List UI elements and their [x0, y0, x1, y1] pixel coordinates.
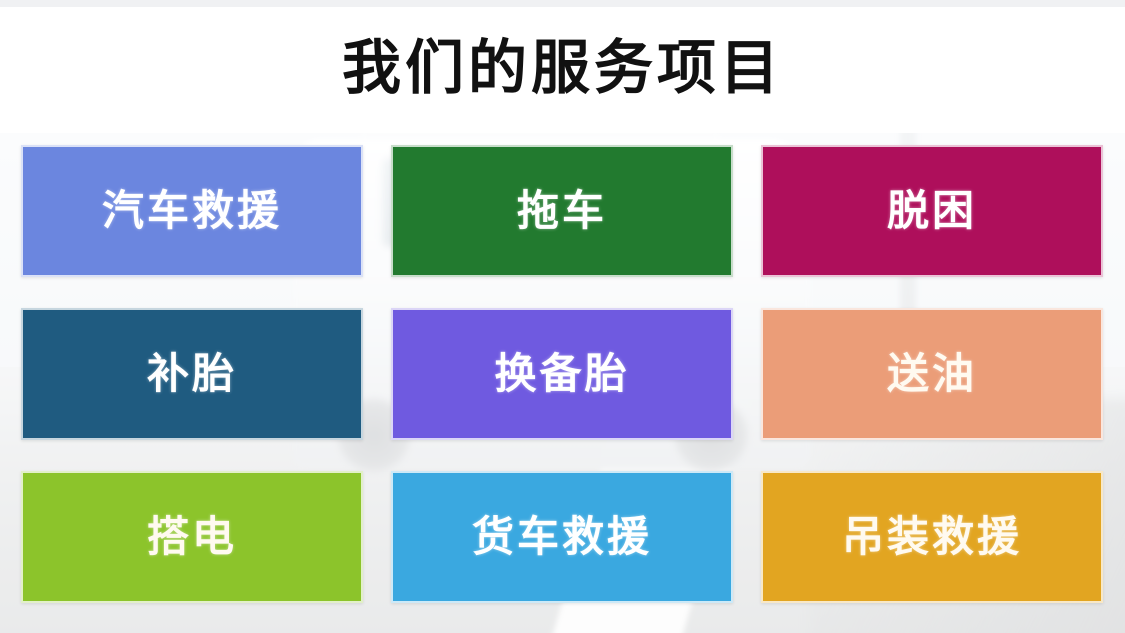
service-tile-label: 补胎 [147, 353, 237, 395]
top-strip [0, 0, 1125, 7]
service-tile-label: 吊装救援 [842, 516, 1022, 558]
service-tile-huoche-jiuyuan[interactable]: 货车救援 [391, 471, 733, 603]
service-tile-label: 搭电 [147, 516, 237, 558]
service-tile-tuokun[interactable]: 脱困 [761, 145, 1103, 277]
service-tile-butai[interactable]: 补胎 [21, 308, 363, 440]
header-band: 我们的服务项目 [0, 7, 1125, 133]
service-tile-label: 换备胎 [494, 353, 629, 395]
service-tile-qiche-jiuyuan[interactable]: 汽车救援 [21, 145, 363, 277]
service-tile-label: 脱困 [887, 190, 977, 232]
service-tile-diaozhuang-jiuyuan[interactable]: 吊装救援 [761, 471, 1103, 603]
service-tile-huanbeitai[interactable]: 换备胎 [391, 308, 733, 440]
service-tile-tuoche[interactable]: 拖车 [391, 145, 733, 277]
service-tile-label: 汽车救援 [102, 190, 282, 232]
page-title: 我们的服务项目 [342, 38, 783, 103]
service-tile-dadian[interactable]: 搭电 [21, 471, 363, 603]
service-tile-label: 拖车 [517, 190, 607, 232]
service-tile-songyou[interactable]: 送油 [761, 308, 1103, 440]
service-poster: 我们的服务项目 汽车救援 拖车 脱困 补胎 换备胎 送油 搭电 货车救援 吊装救… [0, 0, 1125, 633]
service-tile-grid: 汽车救援 拖车 脱困 补胎 换备胎 送油 搭电 货车救援 吊装救援 [21, 145, 1104, 603]
service-tile-label: 送油 [887, 353, 977, 395]
service-tile-label: 货车救援 [472, 516, 652, 558]
